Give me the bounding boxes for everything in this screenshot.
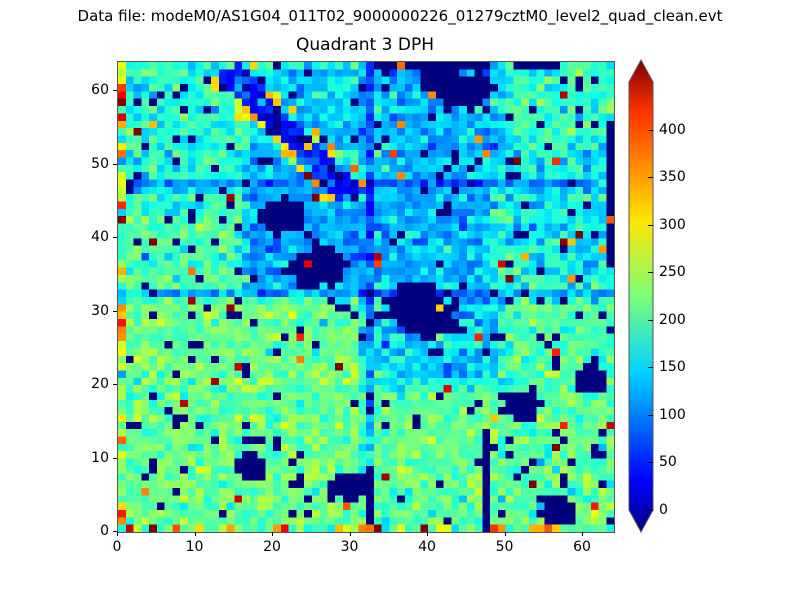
- colorbar-tick-label: 300: [659, 217, 686, 233]
- y-tick-mark: [113, 458, 117, 459]
- colorbar-tick-label: 0: [659, 502, 668, 518]
- colorbar-tick-label: 50: [659, 454, 677, 470]
- colorbar-tick-mark: [648, 272, 653, 273]
- heatmap-axes[interactable]: [117, 61, 615, 533]
- x-tick-mark: [350, 532, 351, 536]
- x-tick-mark: [117, 532, 118, 536]
- y-tick-label: 40: [73, 229, 109, 245]
- y-tick-mark: [113, 237, 117, 238]
- colorbar-tick-mark: [648, 177, 653, 178]
- x-tick-label: 60: [573, 539, 591, 555]
- colorbar-tick-mark: [648, 510, 653, 511]
- colorbar-tick-mark: [648, 367, 653, 368]
- colorbar-tick-mark: [648, 415, 653, 416]
- colorbar-tick-mark: [648, 320, 653, 321]
- heatmap-image[interactable]: [118, 62, 614, 532]
- y-tick-mark: [113, 311, 117, 312]
- y-tick-label: 10: [73, 450, 109, 466]
- y-tick-mark: [113, 384, 117, 385]
- y-tick-label: 30: [73, 303, 109, 319]
- colorbar-tick-label: 150: [659, 359, 686, 375]
- colorbar-tick-label: 200: [659, 312, 686, 328]
- y-tick-label: 50: [73, 156, 109, 172]
- colorbar-tick-mark: [648, 225, 653, 226]
- colorbar-tick-label: 400: [659, 122, 686, 138]
- x-tick-mark: [427, 532, 428, 536]
- colorbar-tick-label: 100: [659, 407, 686, 423]
- data-file-suptitle: Data file: modeM0/AS1G04_011T02_90000002…: [0, 6, 800, 26]
- x-tick-mark: [505, 532, 506, 536]
- x-tick-mark: [272, 532, 273, 536]
- y-tick-mark: [113, 90, 117, 91]
- axes-title: Quadrant 3 DPH: [117, 34, 613, 56]
- x-tick-label: 20: [263, 539, 281, 555]
- y-tick-mark: [113, 164, 117, 165]
- y-tick-label: 60: [73, 82, 109, 98]
- x-tick-label: 10: [186, 539, 204, 555]
- x-tick-label: 50: [496, 539, 514, 555]
- colorbar-tick-mark: [648, 130, 653, 131]
- x-tick-mark: [582, 532, 583, 536]
- x-tick-mark: [195, 532, 196, 536]
- colorbar-tick-mark: [648, 462, 653, 463]
- y-tick-mark: [113, 531, 117, 532]
- colorbar-tick-label: 350: [659, 169, 686, 185]
- colorbar[interactable]: 050100150200250300350400: [628, 58, 654, 534]
- x-tick-label: 30: [341, 539, 359, 555]
- figure-canvas: Data file: modeM0/AS1G04_011T02_90000002…: [0, 0, 800, 600]
- x-tick-label: 40: [418, 539, 436, 555]
- colorbar-tick-label: 250: [659, 264, 686, 280]
- y-tick-label: 0: [73, 523, 109, 539]
- x-tick-label: 0: [113, 539, 122, 555]
- y-tick-label: 20: [73, 376, 109, 392]
